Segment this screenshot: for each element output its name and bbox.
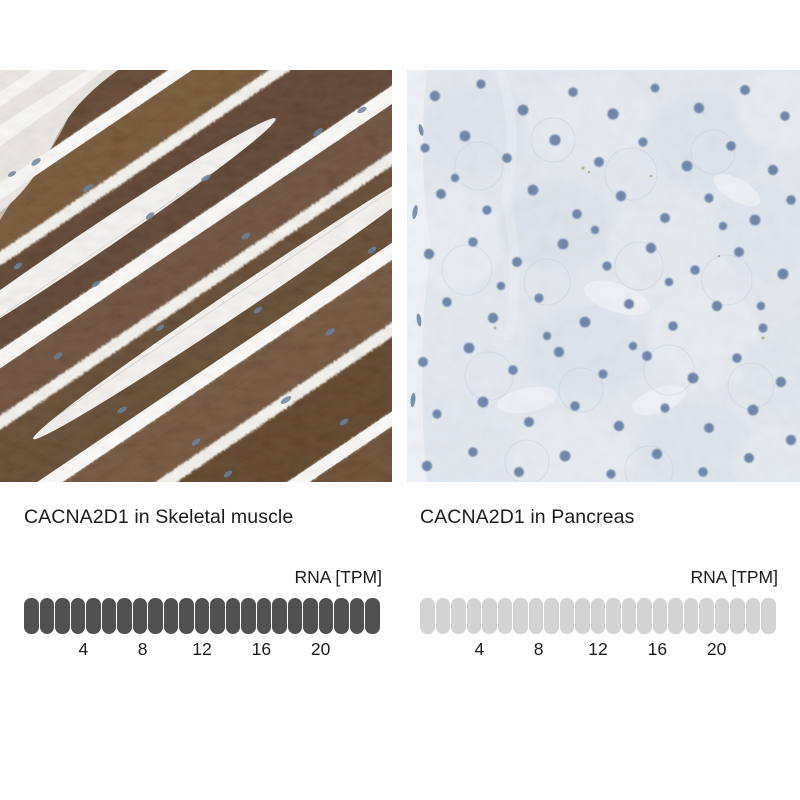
caption-pancreas: CACNA2D1 in Pancreas — [420, 504, 634, 530]
gauge-segment — [334, 598, 349, 634]
rna-tick-label: 12 — [192, 638, 211, 660]
rna-tick-label: 4 — [78, 638, 88, 660]
gauge-segment — [637, 598, 652, 634]
skeletal-muscle-tissue-image — [0, 70, 392, 482]
rna-tpm-label-pancreas: RNA [TPM] — [690, 566, 778, 588]
rna-tick-label: 8 — [138, 638, 148, 660]
gauge-segment — [467, 598, 482, 634]
gauge-segment — [210, 598, 225, 634]
gauge-segment — [420, 598, 435, 634]
gauge-segment — [436, 598, 451, 634]
gauge-segment — [40, 598, 55, 634]
gauge-segment — [102, 598, 117, 634]
gauge-segment — [257, 598, 272, 634]
gauge-segment — [164, 598, 179, 634]
rna-tick-label: 16 — [648, 638, 667, 660]
gauge-segment — [606, 598, 621, 634]
gauge-segment — [513, 598, 528, 634]
gauge-segment — [24, 598, 39, 634]
gauge-segment — [241, 598, 256, 634]
rna-tick-label: 12 — [588, 638, 607, 660]
gauge-segment — [653, 598, 668, 634]
micrograph-pancreas[interactable] — [407, 70, 800, 482]
gauge-segment — [668, 598, 683, 634]
rna-gauge-ticks-pancreas: 48121620 — [420, 638, 776, 662]
gauge-segment — [226, 598, 241, 634]
gauge-segment — [365, 598, 380, 634]
micrograph-row — [0, 70, 800, 482]
rna-gauge-bar-pancreas[interactable] — [420, 598, 776, 634]
gauge-segment — [133, 598, 148, 634]
rna-tick-label: 16 — [252, 638, 271, 660]
gauge-segment — [730, 598, 745, 634]
gauge-segment — [117, 598, 132, 634]
rna-gauge-bar-skeletal-muscle[interactable] — [24, 598, 380, 634]
gauge-segment — [699, 598, 714, 634]
micrograph-skeletal-muscle[interactable] — [0, 70, 392, 482]
gauge-segment — [761, 598, 776, 634]
caption-skeletal-muscle: CACNA2D1 in Skeletal muscle — [24, 504, 293, 530]
rna-gauge-skeletal-muscle: RNA [TPM] 48121620 — [22, 566, 382, 676]
rna-tick-label: 20 — [311, 638, 330, 660]
pancreas-tissue-image — [407, 70, 800, 482]
gauge-segment — [684, 598, 699, 634]
rna-tpm-label-skeletal-muscle: RNA [TPM] — [294, 566, 382, 588]
gauge-segment — [55, 598, 70, 634]
rna-tick-label: 4 — [474, 638, 484, 660]
gauge-segment — [148, 598, 163, 634]
gauge-segment — [451, 598, 466, 634]
rna-tick-label: 20 — [707, 638, 726, 660]
gauge-segment — [86, 598, 101, 634]
gauge-segment — [544, 598, 559, 634]
gauge-segment — [622, 598, 637, 634]
gauge-segment — [715, 598, 730, 634]
gauge-segment — [746, 598, 761, 634]
gauge-segment — [288, 598, 303, 634]
gauge-segment — [303, 598, 318, 634]
gauge-segment — [272, 598, 287, 634]
gauge-segment — [575, 598, 590, 634]
gauge-segment — [195, 598, 210, 634]
gauge-segment — [498, 598, 513, 634]
gauge-segment — [71, 598, 86, 634]
figure-root: CACNA2D1 in Skeletal muscle CACNA2D1 in … — [0, 0, 800, 800]
gauge-segment — [591, 598, 606, 634]
gauge-segment — [482, 598, 497, 634]
rna-tick-label: 8 — [534, 638, 544, 660]
gauge-segment — [350, 598, 365, 634]
rna-gauge-ticks-skeletal-muscle: 48121620 — [24, 638, 380, 662]
gauge-segment — [179, 598, 194, 634]
gauge-segment — [529, 598, 544, 634]
gauge-segment — [319, 598, 334, 634]
rna-gauge-pancreas: RNA [TPM] 48121620 — [418, 566, 778, 676]
gauge-segment — [560, 598, 575, 634]
